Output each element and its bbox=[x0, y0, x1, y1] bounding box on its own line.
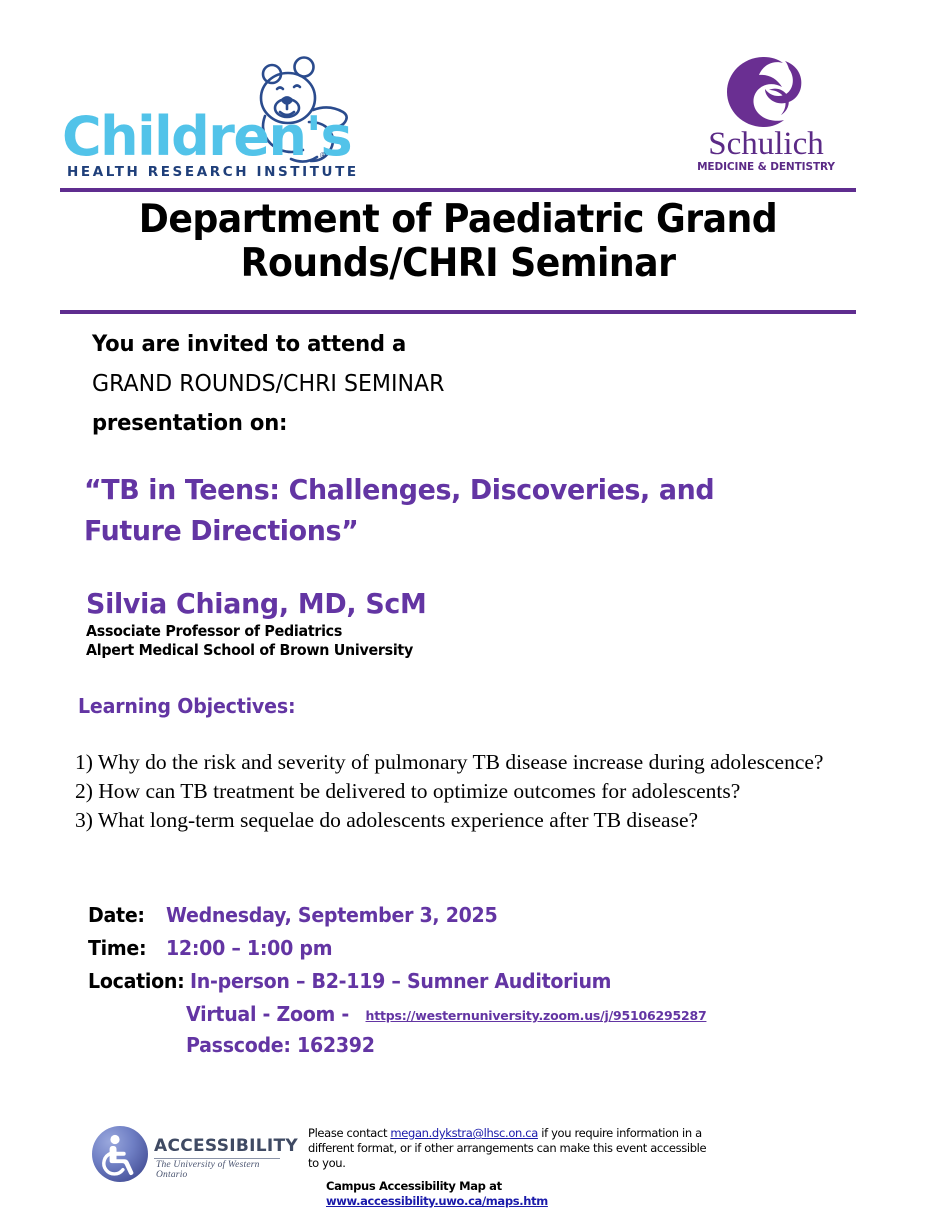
schulich-medicine-dentistry-logo: Schulich MEDICINE & DENTISTRY bbox=[696, 56, 836, 186]
accessibility-logo-subtitle: The University of Western Ontario bbox=[156, 1161, 282, 1180]
registered-trademark-symbol: ® bbox=[320, 151, 326, 160]
location-label: Location: bbox=[88, 969, 184, 993]
header-divider-bottom bbox=[60, 310, 856, 314]
detail-row-date: Date: Wednesday, September 3, 2025 bbox=[88, 903, 888, 927]
childrens-health-research-institute-logo: Children's ® HEALTH RESEARCH INSTITUTE bbox=[62, 58, 362, 186]
campus-map-prefix: Campus Accessibility Map at bbox=[326, 1179, 502, 1193]
campus-accessibility-map-link[interactable]: www.accessibility.uwo.ca/maps.htm bbox=[326, 1194, 548, 1208]
invitation-line-1: You are invited to attend a bbox=[92, 332, 764, 357]
campus-map-line: Campus Accessibility Map at www.accessib… bbox=[308, 1179, 708, 1209]
childrens-logo-subtitle: HEALTH RESEARCH INSTITUTE bbox=[67, 166, 359, 180]
accessibility-note: Please contact megan.dykstra@lhsc.on.ca … bbox=[308, 1126, 708, 1209]
date-value: Wednesday, September 3, 2025 bbox=[166, 903, 497, 927]
schulich-crescent-s-icon bbox=[725, 56, 803, 128]
event-details-block: Date: Wednesday, September 3, 2025 Time:… bbox=[88, 903, 888, 1064]
zoom-meeting-link[interactable]: https://westernuniversity.zoom.us/j/9510… bbox=[366, 1008, 707, 1023]
invitation-block: You are invited to attend a GRAND ROUNDS… bbox=[92, 332, 792, 436]
learning-objectives-list: 1) Why do the risk and severity of pulmo… bbox=[75, 748, 875, 836]
location-value: In-person – B2-119 – Sumner Auditorium bbox=[190, 969, 611, 993]
learning-objectives-heading: Learning Objectives: bbox=[78, 694, 295, 718]
invitation-line-2: GRAND ROUNDS/CHRI SEMINAR bbox=[92, 371, 764, 397]
invitation-line-3: presentation on: bbox=[92, 411, 764, 436]
speaker-name: Silvia Chiang, MD, ScM bbox=[86, 588, 758, 619]
detail-row-location: Location: In-person – B2-119 – Sumner Au… bbox=[88, 969, 888, 993]
wheelchair-accessibility-icon bbox=[92, 1126, 148, 1182]
accessibility-logo-divider bbox=[154, 1158, 280, 1159]
page-title: Department of Paediatric Grand Rounds/CH… bbox=[88, 198, 828, 286]
contact-email-link[interactable]: megan.dykstra@lhsc.on.ca bbox=[390, 1126, 538, 1140]
learning-objective-item: 3) What long-term sequelae do adolescent… bbox=[75, 806, 875, 835]
virtual-zoom-label: Virtual - Zoom - bbox=[186, 1002, 349, 1026]
detail-row-passcode: Passcode: 162392 bbox=[186, 1033, 888, 1057]
presentation-title: “TB in Teens: Challenges, Discoveries, a… bbox=[84, 470, 814, 551]
schulich-name: Schulich bbox=[696, 128, 836, 161]
speaker-organization: Alpert Medical School of Brown Universit… bbox=[86, 641, 751, 660]
speaker-role: Associate Professor of Pediatrics bbox=[86, 622, 751, 641]
time-value: 12:00 – 1:00 pm bbox=[166, 936, 332, 960]
time-label: Time: bbox=[88, 936, 162, 960]
zoom-passcode: Passcode: 162392 bbox=[186, 1033, 375, 1057]
accessibility-logo: ACCESSIBILITY The University of Western … bbox=[92, 1126, 282, 1188]
header-divider-top bbox=[60, 188, 856, 192]
detail-row-virtual: Virtual - Zoom - https://westernuniversi… bbox=[186, 1002, 888, 1026]
accessibility-note-prefix: Please contact bbox=[308, 1126, 390, 1140]
schulich-tagline: MEDICINE & DENTISTRY bbox=[696, 162, 836, 173]
speaker-block: Silvia Chiang, MD, ScM Associate Profess… bbox=[86, 588, 786, 660]
accessibility-wordmark: ACCESSIBILITY bbox=[154, 1138, 298, 1155]
learning-objective-item: 1) Why do the risk and severity of pulmo… bbox=[75, 748, 875, 777]
learning-objective-item: 2) How can TB treatment be delivered to … bbox=[75, 777, 875, 806]
childrens-wordmark: Children's bbox=[62, 110, 351, 164]
detail-row-time: Time: 12:00 – 1:00 pm bbox=[88, 936, 888, 960]
date-label: Date: bbox=[88, 903, 162, 927]
